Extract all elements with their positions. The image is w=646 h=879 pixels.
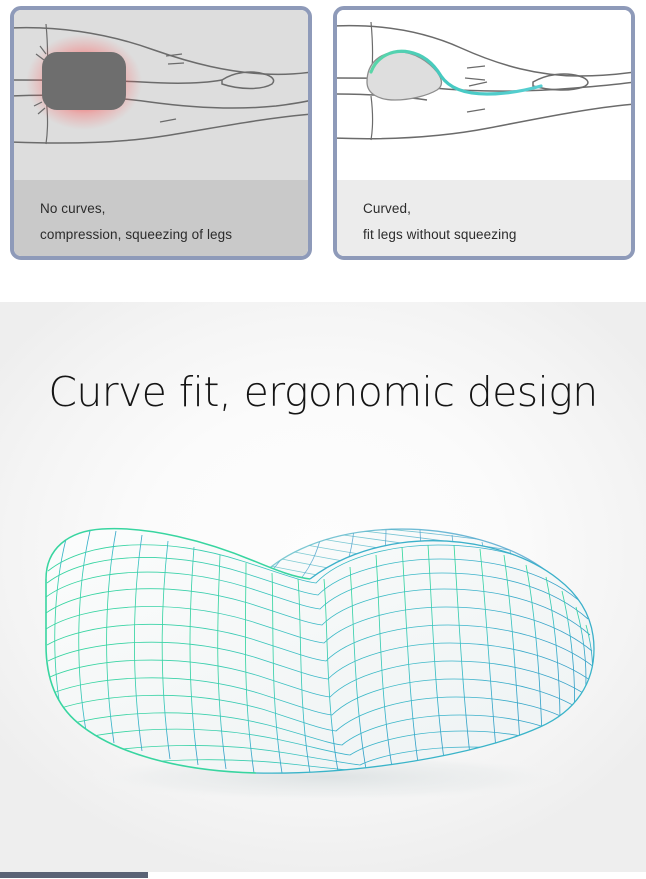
comparison-section: No curves, compression, squeezing of leg… [0,0,646,302]
caption-line-1: No curves, [40,196,308,222]
knee-contour [222,72,274,89]
panel-caption-no-curves: No curves, compression, squeezing of leg… [14,180,308,256]
hero-section: Curve fit, ergonomic design [0,302,646,872]
skin-hatch-marks [465,66,487,112]
legs-with-flat-pillow-pressure-illustration [14,10,308,180]
thigh-crease-lower [371,96,373,140]
ergonomic-pillow-wireframe-mesh [28,487,628,837]
product-feature-page: No curves, compression, squeezing of leg… [0,0,646,879]
page-title: Curve fit, ergonomic design [0,368,646,416]
curved-pillow-illustration-svg [337,10,631,180]
flat-pillow-illustration-svg [14,10,308,180]
skin-hatch-marks [160,54,184,122]
bottom-strip [0,872,646,879]
caption-line-2: compression, squeezing of legs [40,222,308,248]
legs-with-curved-pillow-illustration [337,10,631,180]
comparison-panel-curved[interactable]: Curved, fit legs without squeezing [333,6,635,260]
comparison-panel-no-curves[interactable]: No curves, compression, squeezing of leg… [10,6,312,260]
wireframe-mesh-svg [28,487,628,837]
page-progress-bar[interactable] [0,872,148,878]
flat-pillow-block [42,52,126,110]
caption-line-1: Curved, [363,196,631,222]
caption-line-2: fit legs without squeezing [363,222,631,248]
panel-caption-curved: Curved, fit legs without squeezing [337,180,631,256]
